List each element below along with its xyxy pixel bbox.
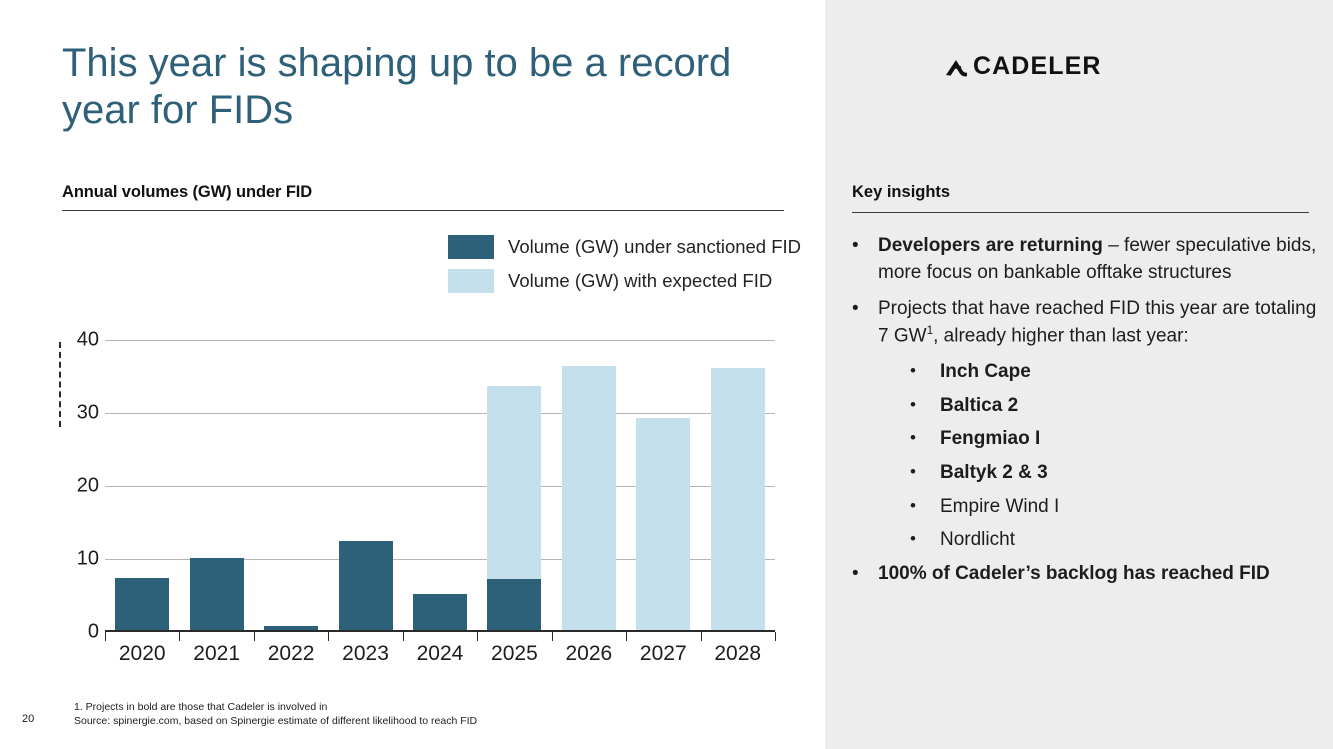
bar-stack[interactable] xyxy=(115,578,169,630)
insight-sub-bullet: •Baltica 2 xyxy=(852,393,1327,420)
x-axis-tick-label: 2026 xyxy=(552,642,626,666)
insight-text-bold: Fengmiao I xyxy=(940,428,1040,449)
legend-swatch xyxy=(448,235,494,259)
bullet-marker: • xyxy=(910,359,940,386)
y-axis-tick-label: 30 xyxy=(77,402,99,425)
footnotes: 20 1. Projects in bold are those that Ca… xyxy=(22,700,477,728)
x-axis-tick xyxy=(328,632,329,641)
insight-text-bold: 100% of Cadeler’s backlog has reached FI… xyxy=(878,563,1270,584)
bar-group[interactable] xyxy=(179,338,253,630)
cadeler-wordmark: CADELER xyxy=(973,52,1102,81)
x-axis-tick-label: 2023 xyxy=(328,642,402,666)
insight-text: Developers are returning – fewer specula… xyxy=(878,233,1327,287)
chart-legend: Volume (GW) under sanctioned FIDVolume (… xyxy=(448,235,801,293)
key-insights-title: Key insights xyxy=(852,183,950,202)
x-axis-tick-label: 2028 xyxy=(701,642,775,666)
bar-segment-expected-fid[interactable] xyxy=(711,368,765,630)
legend-label: Volume (GW) under sanctioned FID xyxy=(508,236,801,258)
insight-text-plain: Empire Wind I xyxy=(940,496,1059,517)
insight-text: Projects that have reached FID this year… xyxy=(878,296,1327,350)
bar-segment-sanctioned-fid[interactable] xyxy=(190,558,244,630)
y-axis-dashed-marker xyxy=(59,342,63,427)
bar-stack[interactable] xyxy=(487,386,541,630)
x-axis-tick-label: 2024 xyxy=(403,642,477,666)
insight-text-bold: Developers are returning xyxy=(878,235,1103,256)
y-axis-tick-label: 40 xyxy=(77,329,99,352)
bar-segment-expected-fid[interactable] xyxy=(562,366,616,630)
legend-swatch xyxy=(448,269,494,293)
chart-header: Annual volumes (GW) under FID xyxy=(62,183,784,211)
bullet-marker: • xyxy=(852,296,878,350)
bar-stack[interactable] xyxy=(562,366,616,630)
bar-group[interactable] xyxy=(328,338,402,630)
plot-inner: 010203040 xyxy=(105,340,775,632)
x-axis-tick xyxy=(775,632,776,641)
insight-text: Fengmiao I xyxy=(940,426,1040,453)
y-axis-tick-label: 10 xyxy=(77,548,99,571)
x-axis-tick xyxy=(477,632,478,641)
insight-text: Baltyk 2 & 3 xyxy=(940,460,1048,487)
cadeler-a-mark xyxy=(945,54,971,80)
bullet-marker: • xyxy=(910,527,940,554)
x-axis-tick xyxy=(403,632,404,641)
key-insights-list: •Developers are returning – fewer specul… xyxy=(852,233,1327,597)
x-axis-ticks xyxy=(105,630,775,632)
bar-group[interactable] xyxy=(626,338,700,630)
footnote-line-1: 1. Projects in bold are those that Cadel… xyxy=(74,700,477,714)
y-axis-tick-label: 0 xyxy=(88,621,99,644)
bar-chart: 010203040 202020212022202320242025202620… xyxy=(45,330,785,675)
insight-sub-bullet: •Fengmiao I xyxy=(852,426,1327,453)
bar-stack[interactable] xyxy=(636,418,690,630)
bar-segment-sanctioned-fid[interactable] xyxy=(115,578,169,630)
insight-text: Nordlicht xyxy=(940,527,1015,554)
footnote-block: 1. Projects in bold are those that Cadel… xyxy=(74,700,477,728)
x-axis-tick xyxy=(254,632,255,641)
bullet-marker: • xyxy=(910,393,940,420)
key-insights-panel: CADELER Key insights •Developers are ret… xyxy=(825,0,1333,749)
bar-stack[interactable] xyxy=(711,368,765,630)
bar-stack[interactable] xyxy=(413,594,467,630)
bar-segment-sanctioned-fid[interactable] xyxy=(339,541,393,630)
insight-text: 100% of Cadeler’s backlog has reached FI… xyxy=(878,561,1327,588)
bar-group[interactable] xyxy=(105,338,179,630)
bullet-marker: • xyxy=(852,233,878,287)
bar-group[interactable] xyxy=(254,338,328,630)
bar-stack[interactable] xyxy=(190,558,244,630)
legend-label: Volume (GW) with expected FID xyxy=(508,270,772,292)
x-axis-labels: 202020212022202320242025202620272028 xyxy=(105,642,775,666)
x-axis-tick-label: 2022 xyxy=(254,642,328,666)
x-axis-tick xyxy=(179,632,180,641)
legend-item[interactable]: Volume (GW) under sanctioned FID xyxy=(448,235,801,259)
legend-item[interactable]: Volume (GW) with expected FID xyxy=(448,269,801,293)
bar-segment-sanctioned-fid[interactable] xyxy=(487,579,541,630)
chart-heading: Annual volumes (GW) under FID xyxy=(62,183,784,202)
page-title: This year is shaping up to be a record y… xyxy=(62,40,782,134)
insight-text-bold: Baltica 2 xyxy=(940,395,1018,416)
insight-text: Inch Cape xyxy=(940,359,1031,386)
insight-sub-bullet: •Baltyk 2 & 3 xyxy=(852,460,1327,487)
insight-text: Baltica 2 xyxy=(940,393,1018,420)
insight-text-bold: Inch Cape xyxy=(940,361,1031,382)
y-axis-tick-label: 20 xyxy=(77,475,99,498)
x-axis-tick-label: 2021 xyxy=(179,642,253,666)
x-axis-tick-label: 2025 xyxy=(477,642,551,666)
page-number: 20 xyxy=(22,700,74,725)
bar-group[interactable] xyxy=(552,338,626,630)
bar-segment-sanctioned-fid[interactable] xyxy=(413,594,467,630)
bar-segment-expected-fid[interactable] xyxy=(487,386,541,579)
x-axis-tick xyxy=(105,632,106,641)
insight-bullet: •Developers are returning – fewer specul… xyxy=(852,233,1327,287)
x-axis-tick xyxy=(626,632,627,641)
bar-group[interactable] xyxy=(477,338,551,630)
x-axis-tick-label: 2020 xyxy=(105,642,179,666)
insight-text: Empire Wind I xyxy=(940,494,1059,521)
bullet-marker: • xyxy=(910,426,940,453)
insight-bullet: •100% of Cadeler’s backlog has reached F… xyxy=(852,561,1327,588)
footnote-line-2: Source: spinergie.com, based on Spinergi… xyxy=(74,714,477,728)
insight-sub-bullet: •Empire Wind I xyxy=(852,494,1327,521)
bar-segment-expected-fid[interactable] xyxy=(636,418,690,630)
bar-group[interactable] xyxy=(701,338,775,630)
insight-sub-bullet: •Nordlicht xyxy=(852,527,1327,554)
insight-text-bold: Baltyk 2 & 3 xyxy=(940,462,1048,483)
x-axis-tick xyxy=(701,632,702,641)
bullet-marker: • xyxy=(910,494,940,521)
cadeler-logo: CADELER xyxy=(945,52,1102,81)
insight-text-plain: , already higher than last year: xyxy=(933,325,1189,346)
insight-bullet: •Projects that have reached FID this yea… xyxy=(852,296,1327,350)
bullet-marker: • xyxy=(852,561,878,588)
chart-heading-divider xyxy=(62,210,784,211)
x-axis-tick-label: 2027 xyxy=(626,642,700,666)
key-insights-divider xyxy=(852,212,1309,213)
bar-stack[interactable] xyxy=(339,541,393,630)
bullet-marker: • xyxy=(910,460,940,487)
bar-group[interactable] xyxy=(403,338,477,630)
insight-text-plain: Nordlicht xyxy=(940,529,1015,550)
x-axis-tick xyxy=(552,632,553,641)
insight-sub-bullet: •Inch Cape xyxy=(852,359,1327,386)
bar-series-container xyxy=(105,338,775,630)
